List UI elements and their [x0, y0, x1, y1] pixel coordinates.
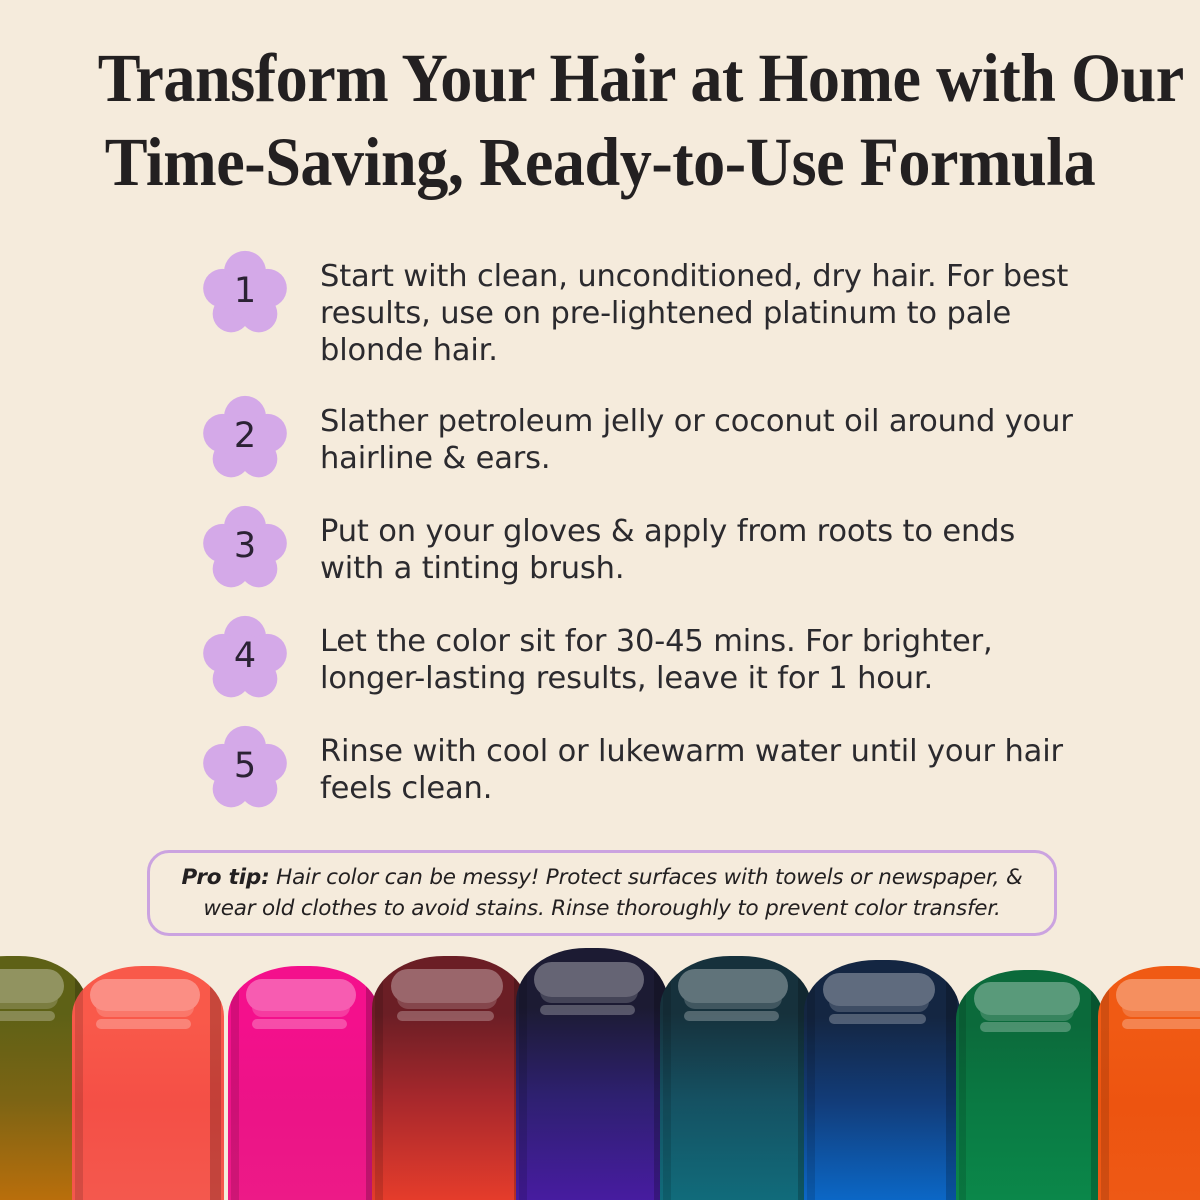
- tube-highlight: [678, 969, 787, 1003]
- tube-highlight-secondary: [96, 1019, 190, 1029]
- tube-highlight: [823, 973, 935, 1007]
- step-number: 2: [203, 395, 287, 479]
- tube-shadow-left: [959, 990, 966, 1200]
- flower-badge-icon: 4: [203, 615, 287, 699]
- step-text: Start with clean, unconditioned, dry hai…: [320, 252, 1080, 369]
- list-item: 4 Let the color sit for 30-45 mins. For …: [0, 617, 1200, 699]
- tube-shadow-left: [519, 970, 527, 1200]
- list-item: 1 Start with clean, unconditioned, dry h…: [0, 252, 1200, 369]
- tube-highlight-secondary: [540, 1005, 634, 1016]
- flower-badge-icon: 2: [203, 395, 287, 479]
- dye-tube-coral-red: [72, 966, 224, 1200]
- tube-highlight-secondary: [684, 1011, 778, 1021]
- tube-highlight: [391, 969, 503, 1003]
- dye-tube-midnight-violet: [516, 948, 668, 1200]
- tube-highlight-secondary: [252, 1019, 346, 1029]
- pro-tip-label: Pro tip:: [181, 865, 269, 890]
- tube-highlight: [246, 979, 355, 1012]
- steps-list: 1 Start with clean, unconditioned, dry h…: [0, 252, 1200, 837]
- dye-tube-hot-pink: [228, 966, 380, 1200]
- tube-highlight-secondary: [1122, 1019, 1200, 1029]
- tube-shadow-left: [375, 977, 383, 1200]
- pro-tip-callout: Pro tip: Hair color can be messy! Protec…: [147, 850, 1057, 936]
- tube-shadow-left: [663, 977, 671, 1200]
- product-photo-strip: [0, 938, 1200, 1200]
- tube-highlight: [90, 979, 199, 1012]
- list-item: 2 Slather petroleum jelly or coconut oil…: [0, 397, 1200, 479]
- step-text: Let the color sit for 30-45 mins. For br…: [320, 617, 1080, 697]
- list-item: 5 Rinse with cool or lukewarm water unti…: [0, 727, 1200, 809]
- tube-shadow-left: [1101, 986, 1109, 1200]
- tube-highlight: [534, 962, 643, 997]
- tube-highlight: [974, 982, 1081, 1014]
- dye-tube-navy-to-blue: [804, 960, 960, 1200]
- tube-highlight-secondary: [829, 1014, 926, 1024]
- dye-tube-deep-teal: [660, 956, 812, 1200]
- dye-tube-emerald-green: [956, 970, 1104, 1200]
- tube-highlight-secondary: [980, 1022, 1072, 1032]
- step-text: Put on your gloves & apply from roots to…: [320, 507, 1080, 587]
- dye-tube-burgundy-to-red: [372, 956, 528, 1200]
- title-line-1: Transform Your Hair at Home with Our: [98, 36, 1102, 120]
- tube-shadow-right: [210, 981, 221, 1200]
- dye-tube-bright-orange: [1098, 966, 1200, 1200]
- step-number: 5: [203, 725, 287, 809]
- list-item: 3 Put on your gloves & apply from roots …: [0, 507, 1200, 589]
- pro-tip-body: Hair color can be messy! Protect surface…: [203, 865, 1022, 921]
- tube-highlight-secondary: [397, 1011, 494, 1021]
- tube-shadow-left: [231, 986, 239, 1200]
- pro-tip-text: Pro tip: Hair color can be messy! Protec…: [172, 862, 1032, 924]
- step-text: Slather petroleum jelly or coconut oil a…: [320, 397, 1080, 477]
- step-number: 4: [203, 615, 287, 699]
- flower-badge-icon: 3: [203, 505, 287, 589]
- page-title: Transform Your Hair at Home with Our Tim…: [0, 36, 1200, 204]
- step-number: 3: [203, 505, 287, 589]
- flower-badge-icon: 1: [203, 250, 287, 334]
- step-text: Rinse with cool or lukewarm water until …: [320, 727, 1080, 807]
- tube-highlight: [1116, 979, 1200, 1012]
- step-number: 1: [203, 250, 287, 334]
- tube-highlight-secondary: [0, 1011, 55, 1021]
- title-line-2: Time-Saving, Ready-to-Use Formula: [98, 120, 1102, 204]
- tube-shadow-left: [75, 986, 83, 1200]
- flower-badge-icon: 5: [203, 725, 287, 809]
- tube-shadow-left: [807, 981, 815, 1200]
- tube-highlight: [0, 969, 64, 1003]
